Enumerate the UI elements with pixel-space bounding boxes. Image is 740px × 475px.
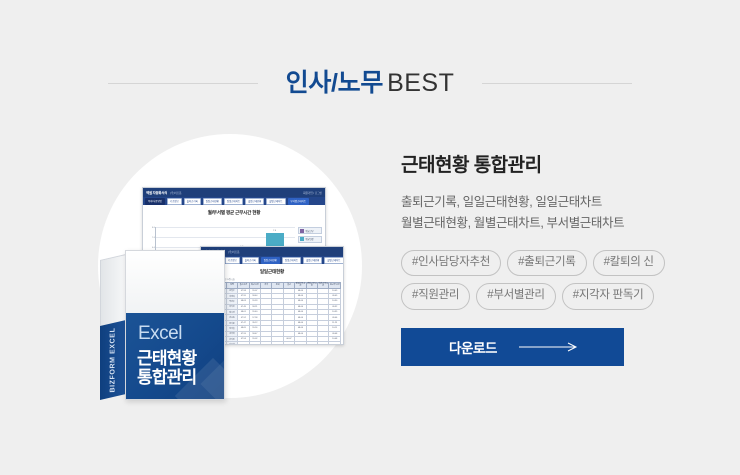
table-cell: 08:02	[238, 342, 249, 345]
page-title-en: BEST	[387, 69, 454, 97]
chart-topbar-right: 회원가입 / 로그인	[303, 191, 322, 195]
download-button-label: 다운로드	[449, 337, 497, 357]
table-cell	[306, 342, 317, 345]
tag-list: #인사담당자추천 #출퇴근기록 #칼퇴의 신 #직원관리 #부서별관리 #지각자…	[401, 250, 701, 310]
package-box: BIZFORM EXCEL Excel 근태현황 통합관리	[100, 250, 225, 400]
chart-ytick-0: 8.0	[152, 227, 155, 229]
section-heading: 인사/노무BEST	[0, 62, 740, 104]
table-tab-6: 월별근태차트	[324, 257, 343, 264]
chart-topbar: 엑셀 자동화서식 (주)비즈폼 회원가입 / 로그인	[143, 188, 325, 197]
table-tab-1: 기초정보	[225, 257, 240, 264]
chart-topbar-sub: (주)비즈폼	[170, 191, 181, 195]
table-cell	[318, 342, 329, 345]
table-cell: 09:31	[329, 342, 341, 345]
legend-swatch-icon-1	[300, 237, 304, 241]
chart-ytick-1: 7.0	[152, 237, 155, 239]
table-cell	[283, 342, 294, 345]
heading-rule-right	[482, 83, 632, 84]
product-description-line1: 출퇴근기록, 일일근태현황, 일일근태차트	[401, 195, 602, 209]
package-box-spine: BIZFORM EXCEL	[100, 320, 126, 400]
chart-tab-0: 목차/사용방법	[145, 198, 165, 205]
table-cell	[261, 342, 272, 345]
table-cell	[272, 342, 283, 345]
chart-legend-label-1: 평균연장	[306, 237, 314, 241]
chart-tab-5: 월별근태현황	[245, 198, 264, 205]
download-button[interactable]: 다운로드	[401, 328, 624, 366]
product-title: 근태현황 통합관리	[401, 155, 721, 178]
chart-tab-3: 일일근태현황	[203, 198, 222, 205]
chart-ytick-2: 6.0	[152, 247, 155, 249]
chart-tab-4: 일일근태차트	[224, 198, 243, 205]
chart-legend-label-0: 평균근무	[306, 229, 314, 233]
legend-swatch-icon-0	[300, 229, 304, 233]
table-tab-2: 출퇴근기록	[242, 257, 259, 264]
package-brand: Excel	[138, 323, 182, 345]
package-spine-text: BIZFORM EXCEL	[110, 327, 117, 394]
table-tab-4: 일일근태차트	[282, 257, 301, 264]
product-info: 근태현황 통합관리 출퇴근기록, 일일근태현황, 일일근태차트 월별근태현황, …	[401, 155, 721, 366]
chart-tab-6: 월별근태차트	[266, 198, 285, 205]
tag-item-5[interactable]: #지각자 판독기	[562, 283, 655, 310]
package-title-line2: 통합관리	[137, 368, 196, 387]
table-cell: 08:00	[295, 342, 306, 345]
table-topbar-sub: (주)비즈폼	[228, 250, 239, 254]
package-face-top	[126, 251, 224, 317]
product-description-line2: 월별근태현황, 월별근태차트, 부서별근태차트	[401, 216, 624, 230]
package-face-bottom: Excel 근태현황 통합관리	[126, 313, 225, 400]
package-title: 근태현황 통합관리	[137, 349, 196, 387]
chart-bar-label-3: 7.4	[266, 230, 284, 232]
chart-topbar-logo: 엑셀 자동화서식	[146, 190, 167, 195]
table-cell: 서동현	[226, 342, 237, 345]
table-cell: 18:33	[249, 342, 260, 345]
page-title: 인사/노무BEST	[286, 71, 455, 96]
product-visual: 엑셀 자동화서식 (주)비즈폼 회원가입 / 로그인 목차/사용방법 기초정보 …	[82, 122, 372, 412]
tag-item-2[interactable]: #칼퇴의 신	[593, 250, 665, 277]
page-title-kr: 인사/노무	[286, 69, 383, 97]
tag-item-3[interactable]: #직원관리	[401, 283, 470, 310]
product-description: 출퇴근기록, 일일근태현황, 일일근태차트 월별근태현황, 월별근태차트, 부서…	[401, 192, 721, 234]
chart-legend-item-1: 평균연장	[298, 236, 322, 243]
tag-item-4[interactable]: #부서별관리	[476, 283, 556, 310]
chart-legend-item-0: 평균근무	[298, 227, 322, 234]
chart-tab-2: 출퇴근기록	[184, 198, 201, 205]
tag-item-0[interactable]: #인사담당자추천	[401, 250, 501, 277]
package-title-line1: 근태현황	[137, 349, 196, 368]
table-tab-5: 월별근태현황	[303, 257, 322, 264]
package-box-face: Excel 근태현황 통합관리	[125, 250, 225, 400]
chart-tab-1: 기초정보	[167, 198, 182, 205]
chart-legend: 평균근무 평균연장	[298, 227, 322, 244]
chart-tabbar: 목차/사용방법 기초정보 출퇴근기록 일일근태현황 일일근태차트 월별근태현황 …	[143, 197, 325, 205]
heading-rule-left	[108, 83, 258, 84]
tag-item-1[interactable]: #출퇴근기록	[507, 250, 587, 277]
chart-tab-7: 부서별근태차트	[288, 198, 309, 205]
chart-sheet-title: 월/부서별 평균 근무시간 현황	[143, 205, 325, 216]
arrow-right-icon	[519, 342, 579, 352]
table-tab-3: 일일근태현황	[261, 257, 280, 264]
